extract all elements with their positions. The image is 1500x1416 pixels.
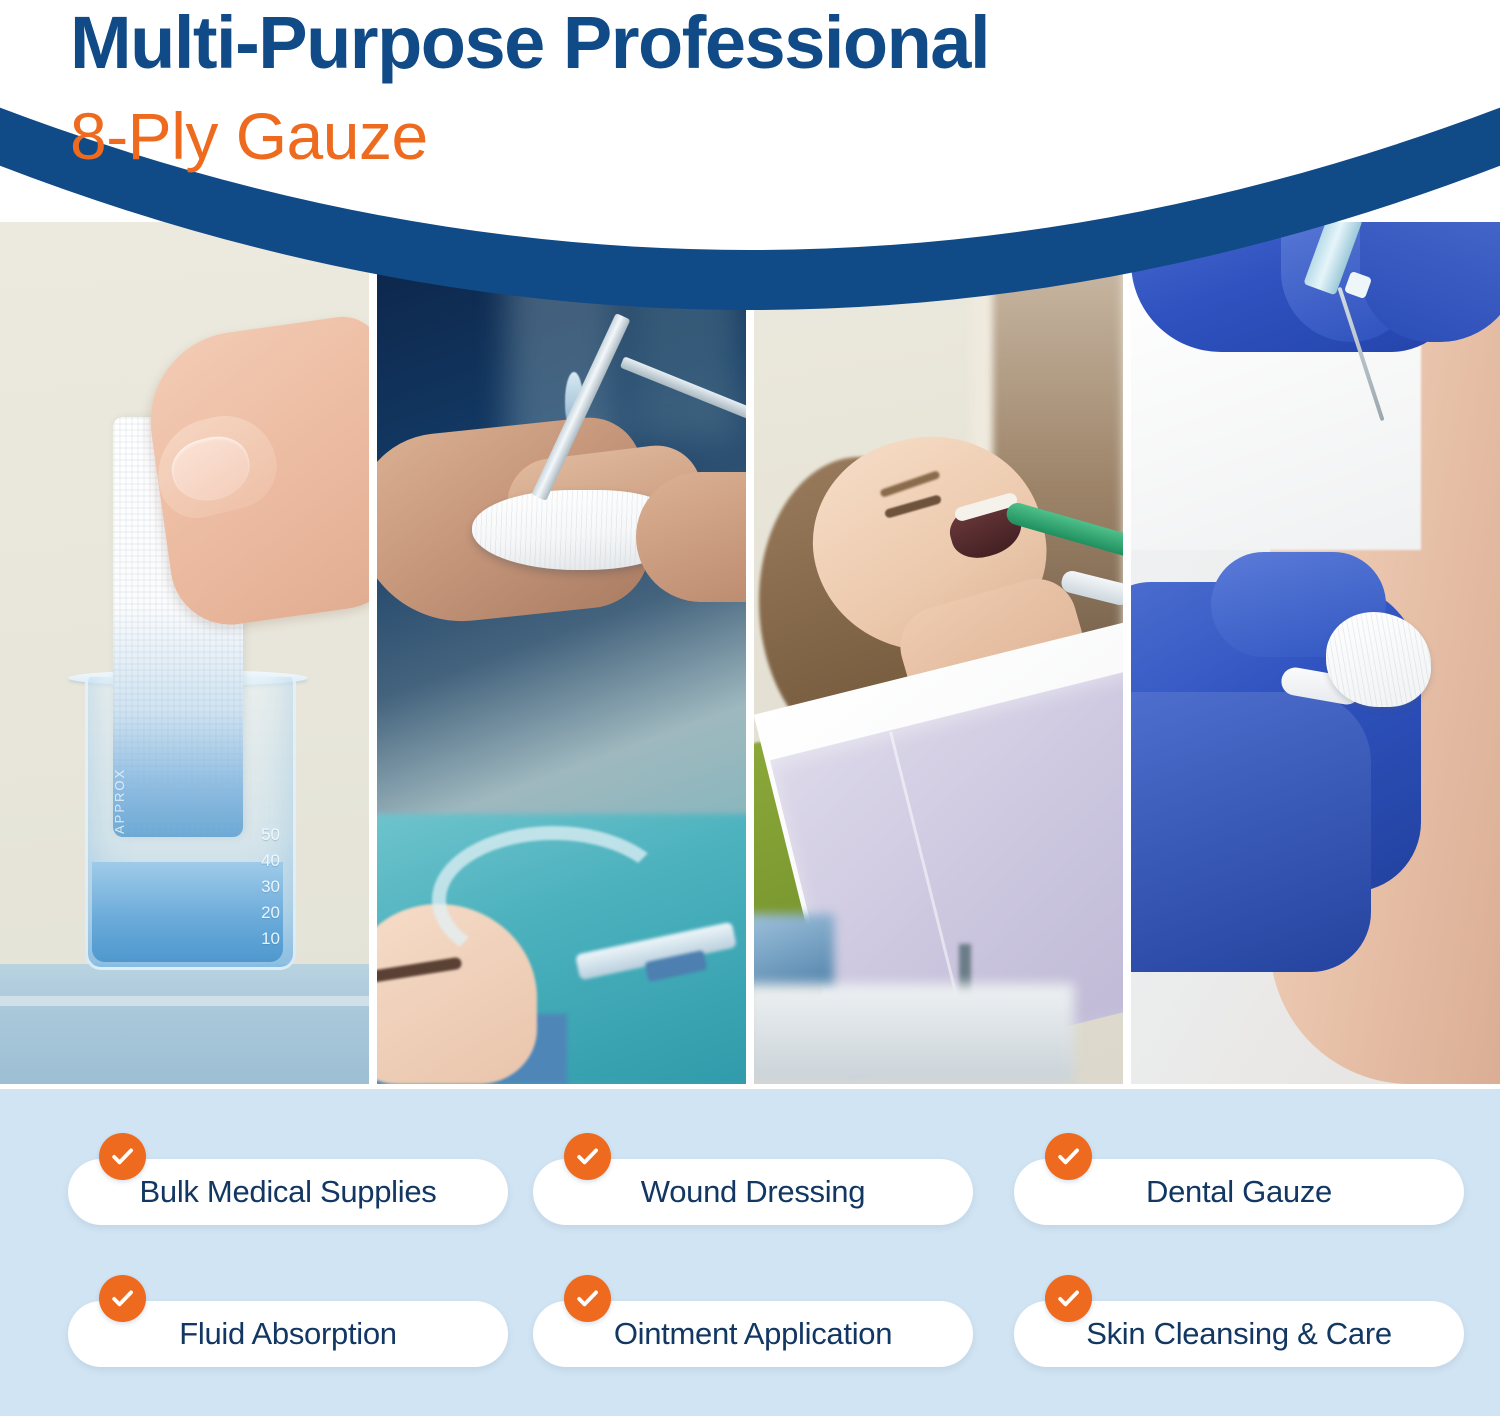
benefit-label: Fluid Absorption	[167, 1316, 409, 1352]
check-circle-icon	[99, 1133, 146, 1180]
benefit-label: Ointment Application	[602, 1316, 904, 1352]
benefit-item-wound-dressing[interactable]: Wound Dressing	[500, 1127, 1000, 1227]
photo1-mark-20: 20	[160, 900, 280, 926]
check-circle-icon	[1045, 1275, 1092, 1322]
check-circle-icon	[99, 1275, 146, 1322]
surgical-gauze-handoff-photo	[377, 222, 746, 1084]
photo4-lower-fingers	[1131, 692, 1371, 972]
photo1-mark-50: 50	[160, 822, 280, 848]
photo3-instrument-tray	[754, 984, 1074, 1084]
benefit-item-fluid-absorption[interactable]: Fluid Absorption	[0, 1269, 500, 1369]
benefit-item-dental-gauze[interactable]: Dental Gauze	[1000, 1127, 1500, 1227]
check-circle-icon	[564, 1275, 611, 1322]
benefit-label: Wound Dressing	[629, 1174, 877, 1210]
photo1-mark-10: 10	[160, 926, 280, 952]
benefit-item-skin-cleansing-care[interactable]: Skin Cleansing & Care	[1000, 1269, 1500, 1369]
check-circle-icon	[564, 1133, 611, 1180]
photo1-table	[0, 964, 369, 1084]
gauze-absorbency-beaker-photo: APPROX 50 40 30 20 10	[0, 222, 369, 1084]
benefit-item-ointment-application[interactable]: Ointment Application	[500, 1269, 1000, 1369]
photo3-monitor	[754, 914, 834, 994]
benefit-label: Bulk Medical Supplies	[128, 1174, 449, 1210]
benefit-label: Skin Cleansing & Care	[1074, 1316, 1404, 1352]
photo-strip: APPROX 50 40 30 20 10	[0, 222, 1500, 1084]
benefits-row-1: Bulk Medical Supplies Wound Dressing Den…	[0, 1127, 1500, 1227]
photo1-mark-30: 30	[160, 874, 280, 900]
photo1-mark-40: 40	[160, 848, 280, 874]
dental-patient-gauze-photo	[754, 222, 1123, 1084]
benefit-label: Dental Gauze	[1134, 1174, 1344, 1210]
benefits-panel: Bulk Medical Supplies Wound Dressing Den…	[0, 1089, 1500, 1416]
photo1-beaker-approx-label: APPROX	[112, 768, 127, 834]
injection-site-gauze-photo	[1131, 222, 1500, 1084]
page-subtitle: 8-Ply Gauze	[70, 103, 428, 169]
photo1-table-edge	[0, 996, 369, 1006]
header: Multi-Purpose Professional 8-Ply Gauze	[0, 0, 1500, 300]
benefit-item-bulk-medical-supplies[interactable]: Bulk Medical Supplies	[0, 1127, 500, 1227]
product-infographic: APPROX 50 40 30 20 10	[0, 0, 1500, 1416]
check-circle-icon	[1045, 1133, 1092, 1180]
photo1-beaker-markings: 50 40 30 20 10	[160, 822, 280, 962]
benefits-row-2: Fluid Absorption Ointment Application Sk…	[0, 1269, 1500, 1369]
page-title: Multi-Purpose Professional	[70, 6, 989, 80]
